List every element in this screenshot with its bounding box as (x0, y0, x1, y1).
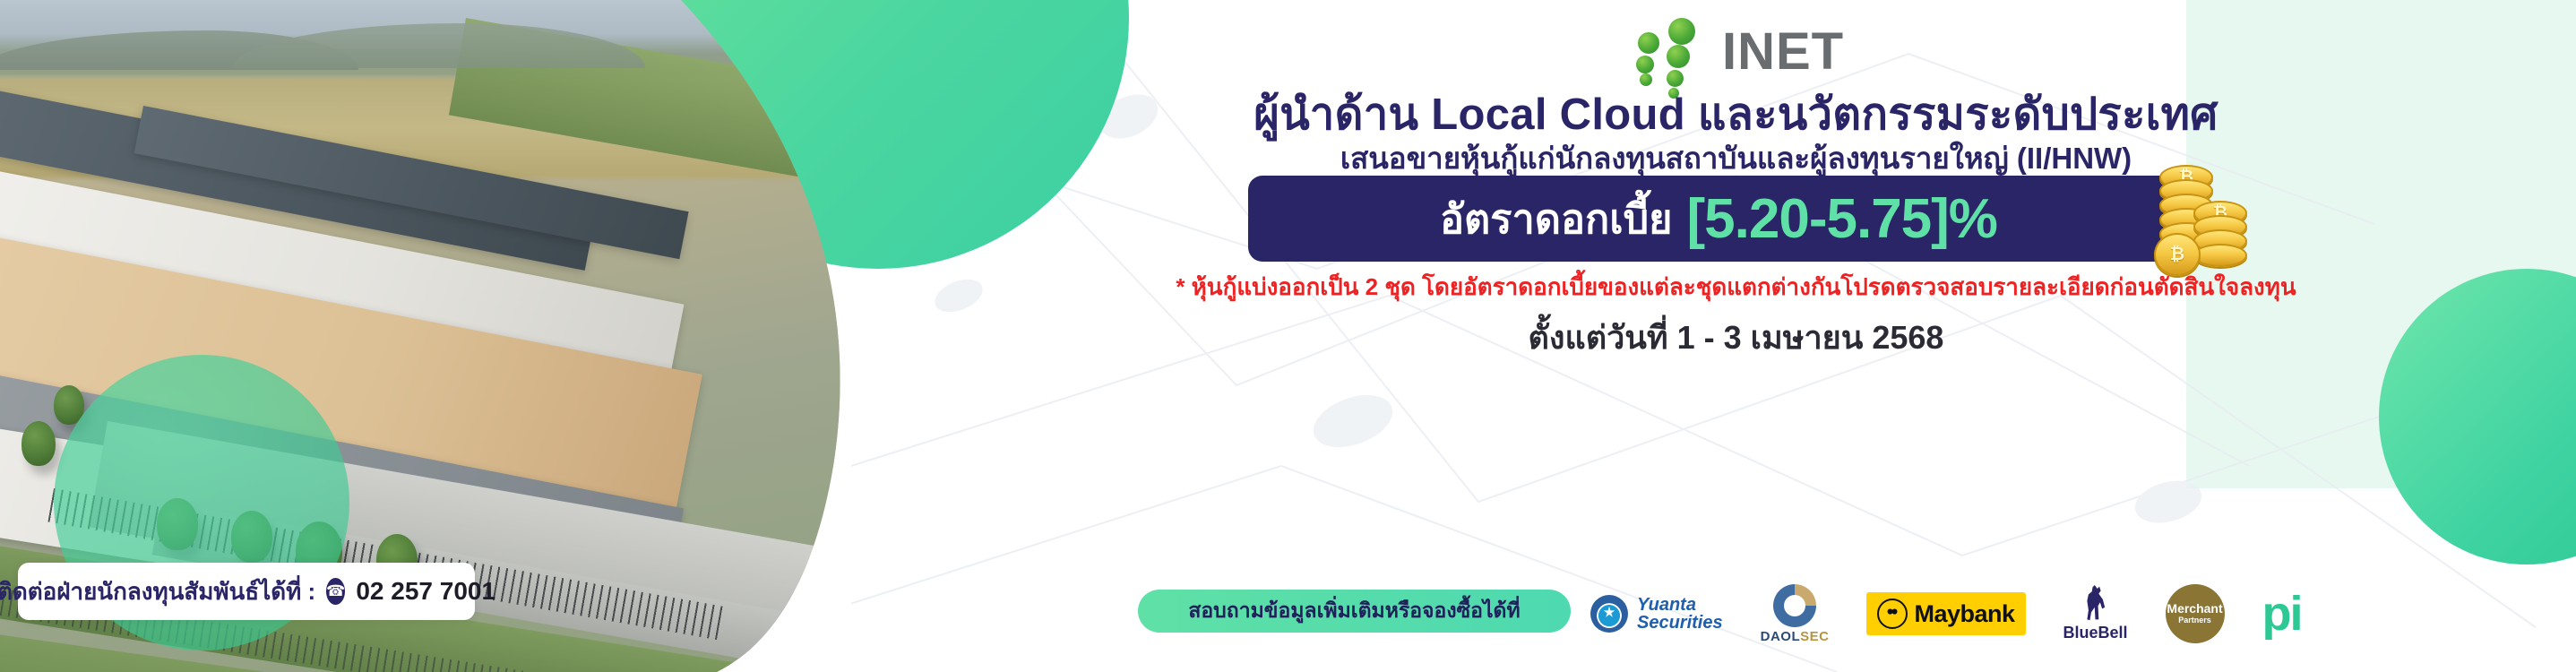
pi-wordmark-icon: pi (2262, 591, 2302, 636)
phone-icon: ☎ (326, 578, 345, 605)
partner-logo-daol[interactable]: DAOLSEC (1761, 582, 1830, 646)
yuanta-label-line1: Yuanta (1637, 596, 1723, 614)
interest-rate-value: [5.20-5.75]% (1687, 187, 1997, 251)
offering-date: ตั้งแต่วันที่ 1 - 3 เมษายน 2568 (896, 312, 2576, 363)
daol-label-sub: SEC (1800, 629, 1829, 644)
partner-logo-yuanta[interactable]: Yuanta Securities (1590, 582, 1723, 646)
bluebell-deer-icon (2079, 585, 2113, 621)
merchant-circle-icon: Merchant Partners (2166, 584, 2225, 643)
contact-label: ติดต่อฝ่ายนักลงทุนสัมพันธ์ได้ที่ : (0, 573, 315, 610)
merchant-label-line1: Merchant (2167, 602, 2222, 616)
interest-rate-box: อัตราดอกเบี้ย [5.20-5.75]% (1248, 176, 2189, 262)
partner-logo-merchant-partners[interactable]: Merchant Partners (2166, 582, 2225, 646)
partner-logo-maybank[interactable]: Maybank (1866, 582, 2025, 646)
inet-logo: INET (1622, 16, 1917, 86)
bluebell-label: BlueBell (2063, 624, 2128, 642)
interest-rate-label: อัตราดอกเบี้ย (1440, 186, 1673, 251)
contact-phone-number[interactable]: 02 257 7001 (356, 577, 495, 606)
inet-bubbles-logo-icon (1622, 16, 1729, 86)
merchant-label-line2: Partners (2178, 616, 2211, 625)
partner-logos: Yuanta Securities DAOLSEC Maybank (1590, 578, 2302, 650)
daol-pie-icon (1773, 584, 1816, 627)
content-column: INET ผู้นำด้าน Local Cloud และนวัตกรรมระ… (896, 0, 2576, 672)
inet-logo-text: INET (1722, 22, 1844, 82)
partner-logo-bluebell[interactable]: BlueBell (2063, 582, 2128, 646)
yuanta-label-line2: Securities (1637, 614, 1723, 632)
inet-bond-offering-banner: INET ผู้นำด้าน Local Cloud และนวัตกรรมระ… (0, 0, 2576, 672)
maybank-tiger-icon (1877, 599, 1908, 629)
yuanta-star-icon (1590, 595, 1628, 633)
disclaimer-text: * หุ้นกู้แบ่งออกเป็น 2 ชุด โดยอัตราดอกเบ… (896, 269, 2576, 306)
maybank-label: Maybank (1914, 600, 2014, 628)
partner-logo-pi[interactable]: pi (2262, 582, 2302, 646)
investor-relations-contact-card: ติดต่อฝ่ายนักลงทุนสัมพันธ์ได้ที่ : ☎ 02 … (18, 563, 475, 620)
gold-coins-icon: ₿ ₿ ₿ (2150, 159, 2253, 271)
daol-label-main: DAOL (1761, 629, 1801, 644)
contact-or-subscribe-button[interactable]: สอบถามข้อมูลเพิ่มเติมหรือจองซื้อได้ที่ (1138, 590, 1571, 633)
